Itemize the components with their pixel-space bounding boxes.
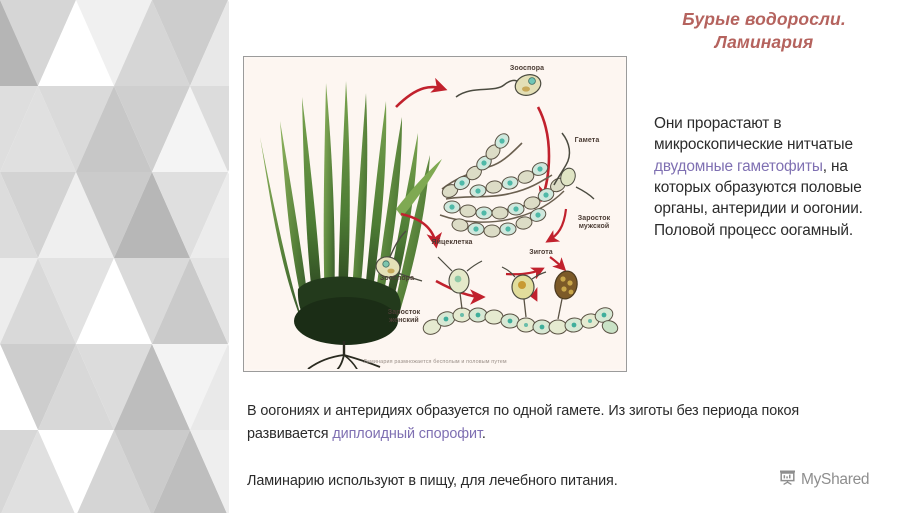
slide-canvas: Бурые водоросли. Ламинария Они прорастаю…: [0, 0, 910, 513]
diagram-label-zygote: Зигота: [518, 249, 564, 257]
diagram-label-prothallus-male: Заросток мужской: [566, 215, 622, 231]
myshared-label: MyShared: [801, 471, 869, 489]
footnote-text: Ламинарию используют в пищу, для лечебно…: [247, 471, 777, 493]
diagram-label-egg-cell: Яйцеклетка: [420, 239, 484, 247]
laminaria-lifecycle-image: Зооспора Гамета Заросток мужской Яйцекле…: [243, 56, 627, 372]
diagram-label-zoospore-bottom: Зооспора: [368, 275, 426, 283]
diagram-caption: Ламинария размножается бесполым и половы…: [246, 359, 624, 365]
bottom-paragraph-highlight: диплоидный спорофит: [332, 426, 482, 442]
diagram-label-gamete: Гамета: [562, 137, 612, 145]
myshared-watermark[interactable]: MyShared: [779, 469, 869, 491]
laminaria-lifecycle-canvas: Зооспора Гамета Заросток мужской Яйцекле…: [246, 59, 624, 369]
projector-screen-icon: [779, 469, 796, 491]
laminaria-lifecycle-svg: [246, 59, 624, 369]
slide-title: Бурые водоросли. Ламинария: [624, 8, 904, 54]
bottom-paragraph-part-2: .: [482, 426, 486, 442]
bottom-paragraph: В оогониях и антеридиях образуется по од…: [247, 400, 847, 446]
slide-title-line-2: Ламинария: [624, 31, 904, 54]
diagram-label-prothallus-female: Заросток женский: [374, 309, 434, 325]
body-paragraph-part-1: Они прорастают в микроскопические нитчат…: [654, 115, 853, 153]
diagram-label-zoospore-top: Зооспора: [498, 65, 556, 73]
body-paragraph: Они прорастают в микроскопические нитчат…: [654, 113, 906, 241]
body-paragraph-highlight: двудомные гаметофиты: [654, 158, 823, 175]
slide-title-line-1: Бурые водоросли.: [624, 8, 904, 31]
bottom-paragraph-part-1: В оогониях и антеридиях образуется по од…: [247, 403, 799, 442]
